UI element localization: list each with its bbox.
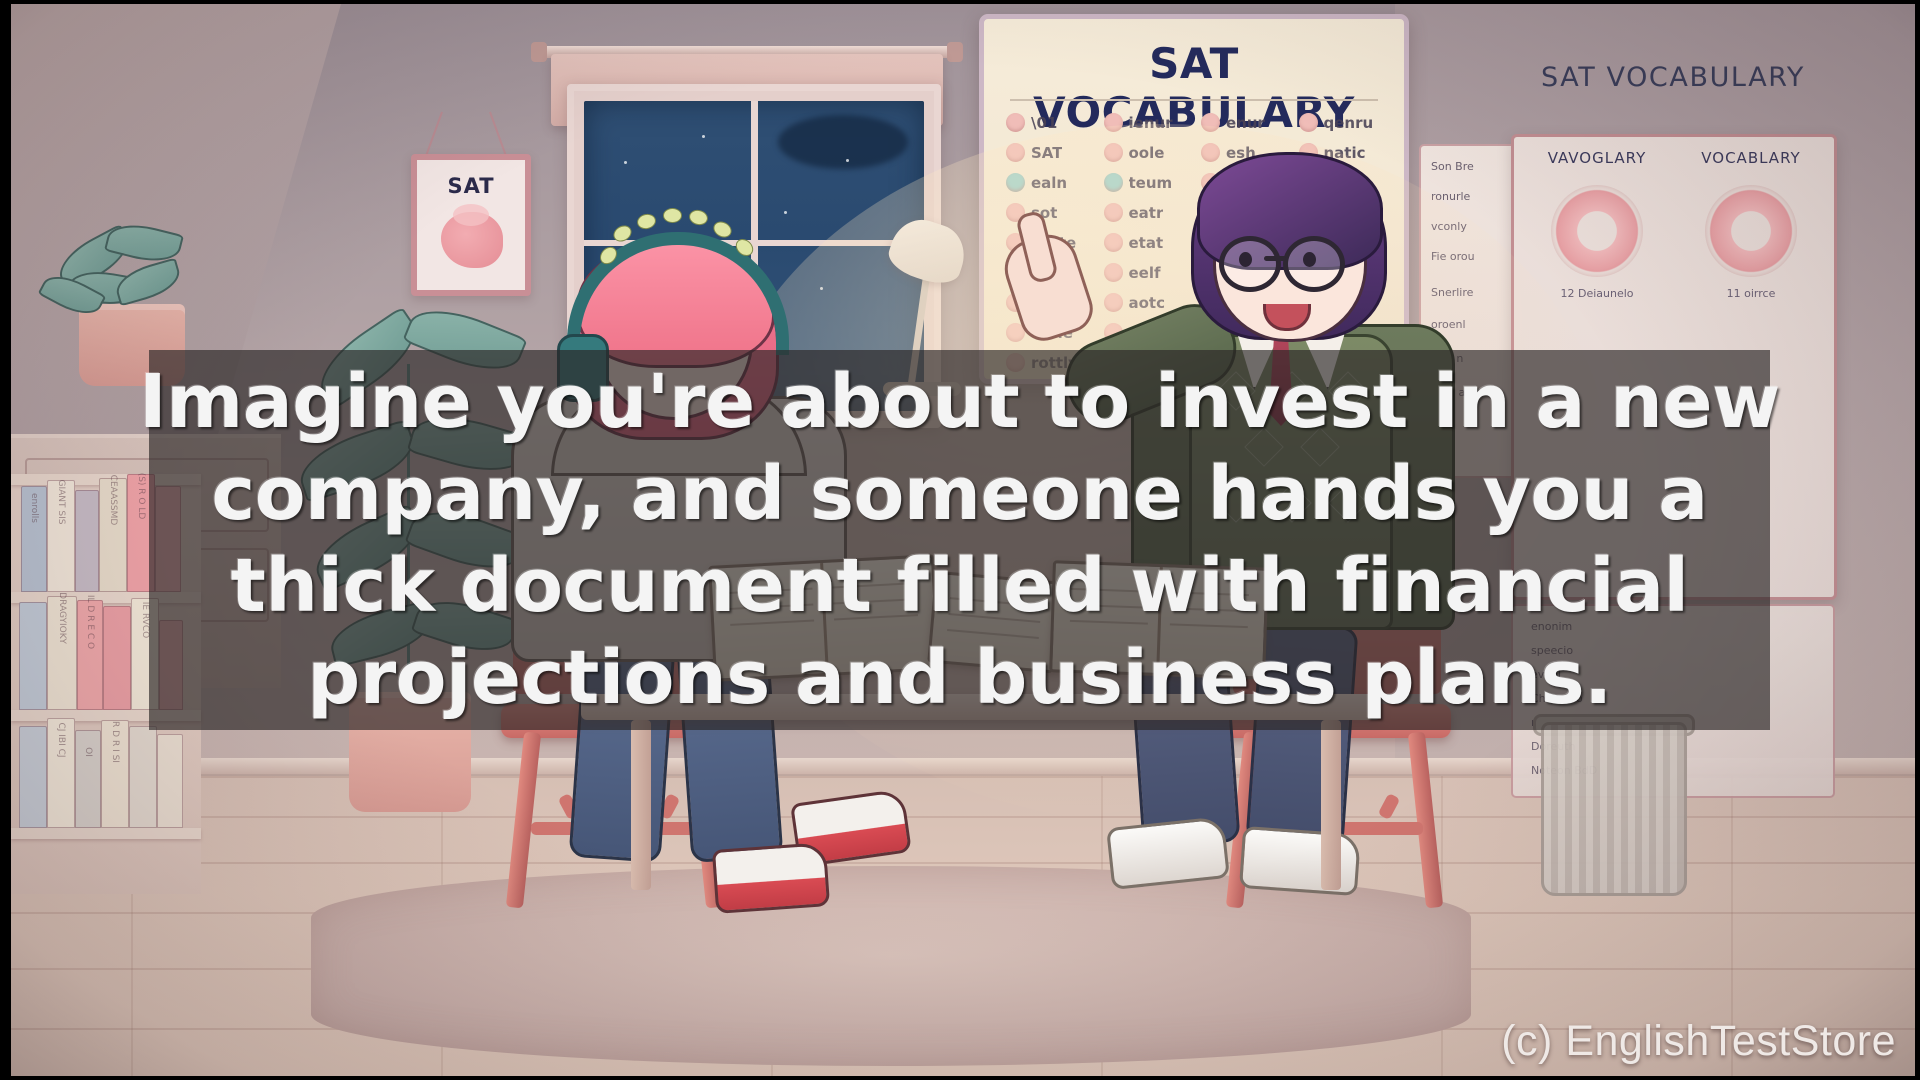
book-label: enrolls — [29, 493, 39, 523]
word-bullet-icon — [1201, 113, 1220, 132]
caption-line-2: company, and someone hands you a — [211, 448, 1707, 540]
rod-cap-left — [531, 42, 547, 62]
poster-word: eelf — [1129, 264, 1161, 282]
side-note: oroenl — [1431, 318, 1466, 331]
side-note: Snerlire — [1431, 286, 1473, 299]
poster-word: enur — [1226, 114, 1265, 132]
poster-word: teum — [1129, 174, 1173, 192]
wall-right-heading: SAT VOCABULARY — [1523, 62, 1823, 93]
side-note: Son Bre — [1431, 160, 1474, 173]
word-bullet-icon — [1104, 113, 1123, 132]
poster-word: SAT — [1031, 144, 1062, 162]
caption-line-1: Imagine you're about to invest in a new — [139, 356, 1780, 448]
word-bullet-icon — [1104, 203, 1123, 222]
letterbox-top — [0, 0, 1920, 4]
book-label: OI — [83, 747, 93, 757]
table-leg-left — [631, 720, 651, 890]
side-note: Fie orou — [1431, 250, 1475, 263]
wreath-label: 12 Deiaunelo — [1532, 287, 1662, 300]
letterbox-bottom — [0, 1076, 1920, 1080]
table-leg-right — [1321, 720, 1341, 890]
rod-cap-right — [947, 42, 963, 62]
word-bullet-icon — [1006, 113, 1025, 132]
poster-word: eatr — [1129, 204, 1164, 222]
letterbox-left — [0, 0, 11, 1080]
poster-word: ienur — [1129, 114, 1173, 132]
side-note: vconly — [1431, 220, 1467, 233]
book-label: GIANT SIS — [56, 480, 66, 525]
word-bullet-icon — [1201, 143, 1220, 162]
book-label: R D R I SI — [110, 721, 120, 763]
watermark: (c) EnglishTestStore — [1501, 1017, 1896, 1066]
word-bullet-icon — [1104, 233, 1123, 252]
hanging-frame-label: SAT — [417, 174, 525, 198]
book-label: IL D R E C O — [85, 595, 95, 649]
boy-sneaker-right — [1239, 826, 1361, 896]
side-note: ronurle — [1431, 190, 1470, 203]
book-label: CJ IBI CJ — [56, 722, 66, 757]
video-still: SAT enrolls GIANT SIS CEAASSMD (S) R O L… — [0, 0, 1920, 1080]
poster-word: ealn — [1031, 174, 1067, 192]
wreath-graphic — [1551, 185, 1643, 277]
glasses-bridge — [1264, 256, 1286, 261]
poster-word: qenru — [1324, 114, 1374, 132]
hanging-picture-frame: SAT — [411, 154, 531, 296]
board-column-title: VOCABLARY — [1686, 149, 1816, 167]
caption-line-3: thick document filled with financial — [231, 540, 1689, 632]
poster-word: oole — [1129, 144, 1165, 162]
book-label: CEAASSMD — [108, 475, 118, 526]
word-bullet-icon — [1104, 263, 1123, 282]
letterbox-right — [1915, 0, 1920, 1080]
poster-word: aotc — [1129, 294, 1166, 312]
poster-divider — [1010, 99, 1378, 101]
word-bullet-icon — [1104, 173, 1123, 192]
boy-eye-right — [1303, 252, 1316, 267]
word-bullet-icon — [1006, 143, 1025, 162]
book-label: (S) R O LD — [136, 473, 146, 520]
night-cloud — [778, 115, 908, 169]
book-label: DRAGYIOKY — [57, 592, 67, 644]
trash-bin — [1541, 722, 1687, 896]
word-bullet-icon — [1104, 143, 1123, 162]
poster-word: etat — [1129, 234, 1164, 252]
word-bullet-icon — [1299, 113, 1318, 132]
boy-sneaker-left — [1106, 816, 1230, 890]
poster-word: \01 — [1031, 114, 1057, 132]
girl-sneaker-left — [712, 842, 830, 914]
wreath-graphic — [1705, 185, 1797, 277]
area-rug — [311, 866, 1471, 1066]
boy-eye-left — [1239, 252, 1252, 267]
word-bullet-icon — [1104, 293, 1123, 312]
board-column-title: VAVOGLARY — [1532, 149, 1662, 167]
wreath-label: 11 oirrce — [1686, 287, 1816, 300]
caption-line-4: projections and business plans. — [307, 632, 1612, 724]
frame-artwork-highlight — [453, 204, 489, 226]
subtitle-caption: Imagine you're about to invest in a new … — [149, 350, 1770, 730]
word-bullet-icon — [1006, 173, 1025, 192]
